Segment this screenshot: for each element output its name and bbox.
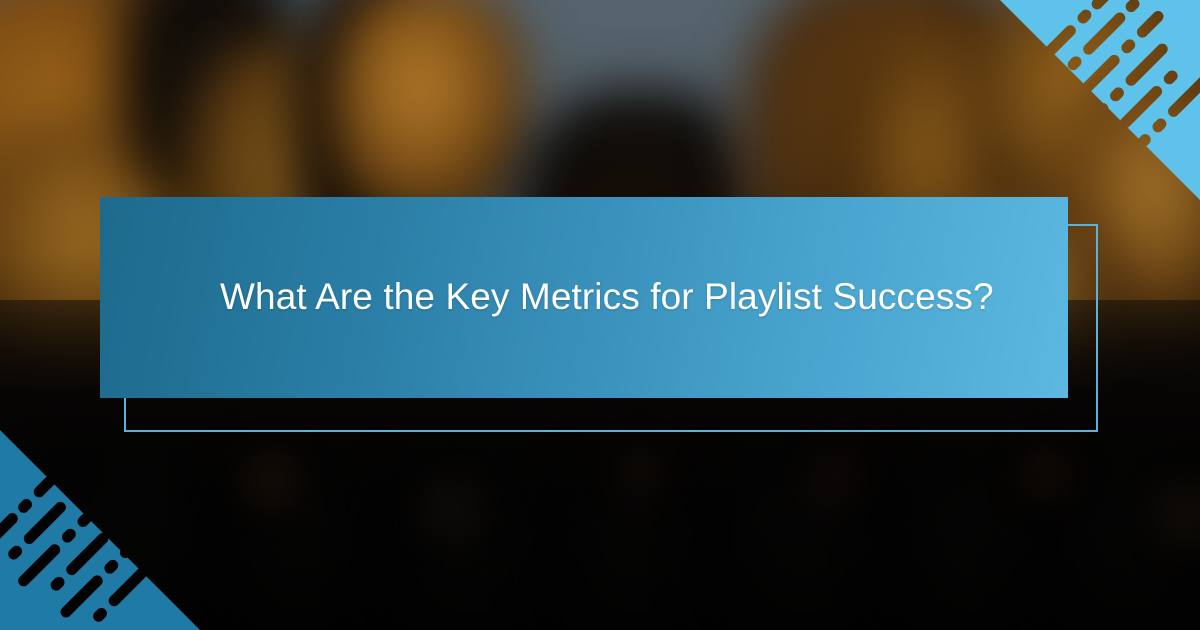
dashed-corner-triangle-bottom-left — [0, 430, 200, 630]
dashed-corner-triangle-icon — [0, 430, 200, 630]
dashed-corner-triangle-icon — [1000, 0, 1200, 200]
social-share-card: What Are the Key Metrics for Playlist Su… — [0, 0, 1200, 630]
page-title: What Are the Key Metrics for Playlist Su… — [100, 275, 1054, 319]
dashed-corner-triangle-top-right — [1000, 0, 1200, 200]
title-banner: What Are the Key Metrics for Playlist Su… — [100, 197, 1068, 398]
